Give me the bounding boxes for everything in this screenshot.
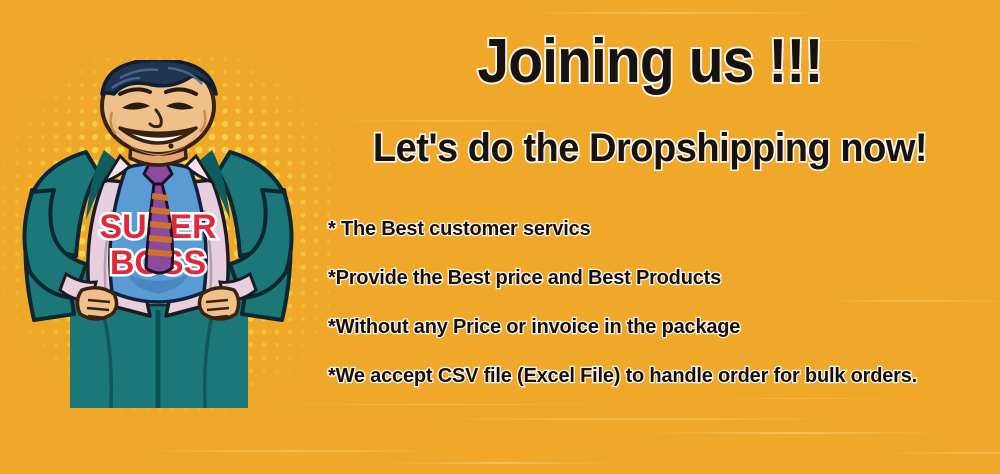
banner-copy: Joining us !!! Let's do the Dropshipping…: [300, 0, 1000, 474]
list-item: *Provide the Best price and Best Product…: [328, 267, 1000, 289]
promo-banner: SUPER BOSS: [0, 0, 1000, 474]
list-item: *Without any Price or invoice in the pac…: [328, 316, 1000, 338]
page-title: Joining us !!!: [328, 31, 972, 93]
banner-subheading: Let's do the Dropshipping now!: [318, 128, 983, 168]
businessman-illustration: SUPER BOSS: [8, 60, 308, 408]
feature-list: * The Best customer servics *Provide the…: [328, 218, 1000, 387]
list-item: * The Best customer servics: [328, 218, 1000, 240]
list-item: *We accept CSV file (Excel File) to hand…: [328, 365, 1000, 387]
